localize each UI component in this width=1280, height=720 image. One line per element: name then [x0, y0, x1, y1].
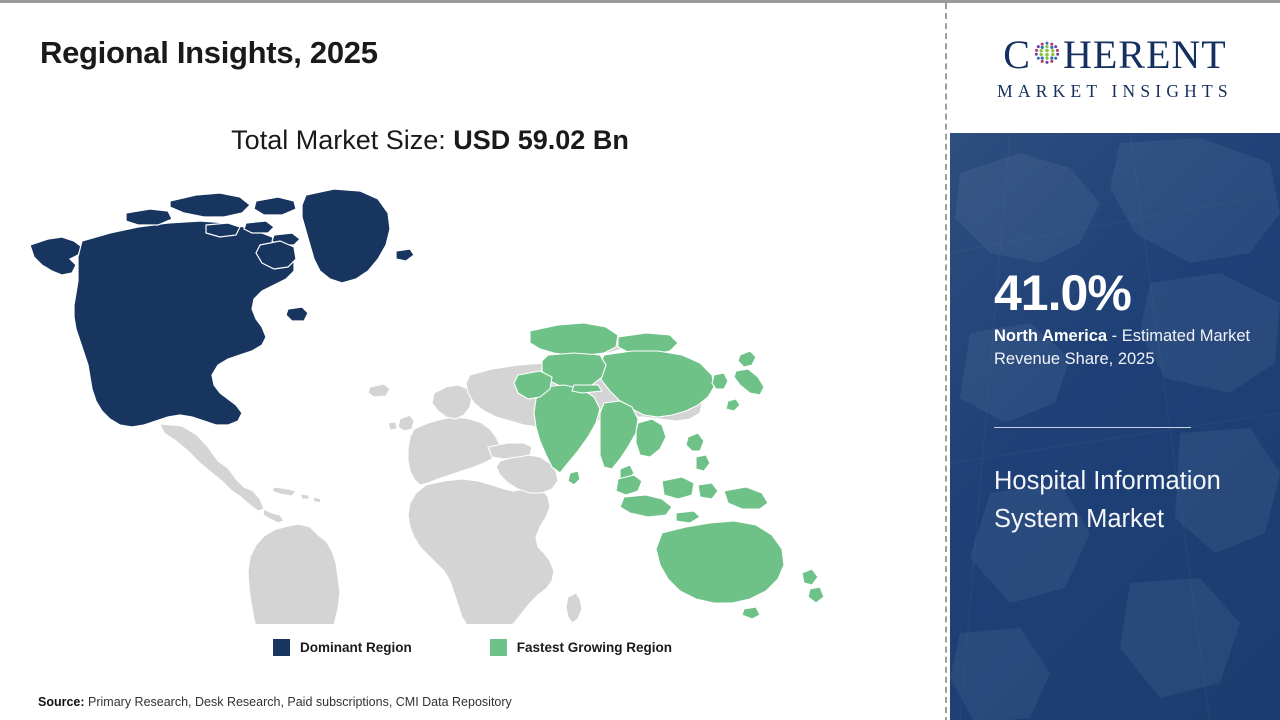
legend-swatch-fastest-growing-icon: [490, 639, 507, 656]
logo-tagline: MARKET INSIGHTS: [997, 81, 1233, 102]
world-map: [22, 179, 922, 624]
globe-dots-icon: [1032, 35, 1062, 75]
stat-region-name: North America: [994, 327, 1107, 345]
logo-wordmark: C: [1003, 35, 1226, 75]
legend-item-fastest-growing: Fastest Growing Region: [490, 639, 672, 656]
source-note: Source: Primary Research, Desk Research,…: [38, 695, 512, 709]
page-title: Regional Insights, 2025: [40, 35, 378, 71]
world-map-svg: [22, 179, 922, 624]
total-market-size: Total Market Size: USD 59.02 Bn: [0, 125, 860, 156]
map-region-north-america: [30, 189, 414, 427]
map-legend: Dominant Region Fastest Growing Region: [0, 639, 945, 656]
stat-description: North America - Estimated Market Revenue…: [994, 325, 1259, 372]
left-panel: Regional Insights, 2025 Total Market Siz…: [0, 3, 945, 720]
legend-label-dominant: Dominant Region: [300, 640, 412, 655]
right-panel: C: [950, 3, 1280, 720]
panel-divider: [945, 3, 947, 720]
legend-label-fastest-growing: Fastest Growing Region: [517, 640, 672, 655]
source-label: Source:: [38, 695, 85, 709]
logo-letter-c: C: [1003, 35, 1031, 75]
market-title: Hospital Information System Market: [994, 463, 1244, 538]
infographic-root: Regional Insights, 2025 Total Market Siz…: [0, 0, 1280, 720]
logo-letters-herent: HERENT: [1063, 35, 1227, 75]
brand-logo: C: [950, 3, 1280, 133]
market-size-value: USD 59.02 Bn: [453, 125, 629, 155]
source-text: Primary Research, Desk Research, Paid su…: [85, 695, 512, 709]
stat-percentage: 41.0%: [994, 268, 1131, 318]
legend-item-dominant: Dominant Region: [273, 639, 412, 656]
panel-content: 41.0% North America - Estimated Market R…: [994, 133, 1256, 720]
stat-divider-rule: [994, 427, 1191, 428]
map-region-asia-pacific: [514, 323, 824, 619]
market-size-label: Total Market Size:: [231, 125, 453, 155]
legend-swatch-dominant-icon: [273, 639, 290, 656]
stats-panel: 41.0% North America - Estimated Market R…: [950, 133, 1280, 720]
